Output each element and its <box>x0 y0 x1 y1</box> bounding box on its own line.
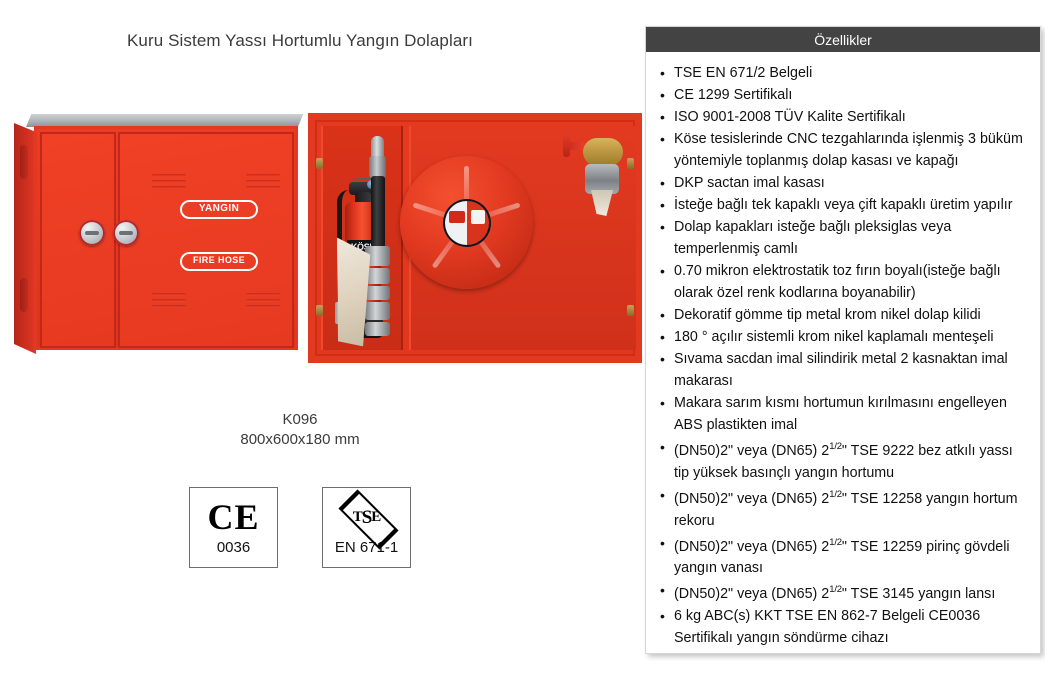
louver-vent-icon <box>152 293 186 310</box>
fraction-superscript: 1/2 <box>829 489 842 500</box>
ce-mark-badge: CE 0036 <box>189 487 278 568</box>
cabinet-interior: KÖSE DRY POWDER · KURU TOZ <box>315 120 635 356</box>
open-cabinet-image: KÖSE DRY POWDER · KURU TOZ <box>308 113 642 363</box>
specifications-header: Özellikler <box>646 27 1040 52</box>
model-code-block: K096 800x600x180 mm <box>0 410 600 450</box>
specification-item: Sıvama sacdan imal silindirik metal 2 ka… <box>660 348 1028 392</box>
specification-item: 180 ° açılır sistemli krom nikel kaplama… <box>660 326 1028 348</box>
specification-item: (DN50)2" veya (DN65) 21/2" TSE 12258 yan… <box>660 484 1028 532</box>
nozzle-tube <box>371 176 385 248</box>
louver-vent-icon <box>152 174 186 191</box>
hose-coupling <box>365 322 390 336</box>
valve-hose-sock <box>591 190 613 216</box>
cabinet-side-panel <box>14 123 36 354</box>
hose-reel <box>400 156 533 289</box>
product-datasheet-page: Kuru Sistem Yassı Hortumlu Yangın Dolapl… <box>0 0 1045 700</box>
ce-mark-icon: CE <box>207 500 259 534</box>
specifications-panel: Özellikler TSE EN 671/2 BelgeliCE 1299 S… <box>645 26 1041 654</box>
tse-mark-badge: TSE EN 671-1 <box>322 487 411 568</box>
model-code: K096 <box>0 410 600 430</box>
hinge-icon <box>627 305 634 316</box>
nozzle-grip <box>369 156 386 178</box>
specification-item: Köse tesislerinde CNC tezgahlarında işle… <box>660 128 1028 172</box>
specification-item: (DN50)2" veya (DN65) 21/2" TSE 12259 pir… <box>660 532 1028 580</box>
valve-body <box>583 138 623 166</box>
fraction-superscript: 1/2 <box>829 441 842 452</box>
specification-item: CE 1299 Sertifikalı <box>660 84 1028 106</box>
specification-item: 6 kg ABC(s) KKT TSE EN 862-7 Belgeli CE0… <box>660 605 1028 649</box>
specification-item: DKP sactan imal kasası <box>660 172 1028 194</box>
specification-item: (DN50)2" veya (DN65) 21/2" TSE 3145 yang… <box>660 579 1028 605</box>
fraction-superscript: 1/2 <box>829 584 842 595</box>
model-dimensions: 800x600x180 mm <box>0 430 600 450</box>
nozzle-tip <box>371 136 384 158</box>
certification-marks: CE 0036 TSE EN 671-1 <box>0 487 600 568</box>
specification-item: (DN50)2" veya (DN65) 21/2" TSE 9222 bez … <box>660 436 1028 484</box>
door-lock-icon <box>79 220 105 246</box>
specification-item: 0.70 mikron elektrostatik toz fırın boya… <box>660 260 1028 304</box>
louver-vent-icon <box>246 174 280 191</box>
louver-vent-icon <box>246 293 280 310</box>
brass-fire-valve <box>553 132 629 228</box>
hinge-icon <box>316 158 323 169</box>
specification-item: Makara sarım kısmı hortumun kırılmasını … <box>660 392 1028 436</box>
page-title: Kuru Sistem Yassı Hortumlu Yangın Dolapl… <box>0 31 600 51</box>
cabinet-door-left <box>40 132 116 348</box>
specification-item: Dekoratif gömme tip metal krom nikel dol… <box>660 304 1028 326</box>
valve-coupler <box>585 164 619 194</box>
door-lock-icon <box>113 220 139 246</box>
cabinet-door-right <box>118 132 294 348</box>
tse-standard-number: EN 671-1 <box>335 539 398 556</box>
valve-handle <box>565 142 585 150</box>
hose-coupling <box>365 302 390 320</box>
fraction-superscript: 1/2 <box>829 537 842 548</box>
ce-notified-body-number: 0036 <box>217 539 250 556</box>
reel-hub-logo <box>445 201 489 245</box>
side-vent-icon <box>20 278 28 312</box>
specification-item: TSE EN 671/2 Belgeli <box>660 62 1028 84</box>
cabinet-badge-yangin: YANGIN <box>180 200 258 219</box>
closed-cabinet-image: YANGIN FIRE HOSE <box>14 114 298 362</box>
specification-item: İsteğe bağlı tek kapaklı veya çift kapak… <box>660 194 1028 216</box>
specifications-list: TSE EN 671/2 BelgeliCE 1299 SertifikalıI… <box>646 52 1040 659</box>
cabinet-badge-fire-hose: FIRE HOSE <box>180 252 258 271</box>
product-visual-column: Kuru Sistem Yassı Hortumlu Yangın Dolapl… <box>0 0 645 700</box>
hinge-icon <box>316 305 323 316</box>
cabinet-front-face: YANGIN FIRE HOSE <box>34 126 298 350</box>
hose-coupling <box>365 286 390 300</box>
specification-item: ISO 9001-2008 TÜV Kalite Sertifikalı <box>660 106 1028 128</box>
tse-diamond-icon: TSE <box>332 502 402 534</box>
side-vent-icon <box>20 145 28 179</box>
specification-item: Dolap kapakları isteğe bağlı pleksiglas … <box>660 216 1028 260</box>
